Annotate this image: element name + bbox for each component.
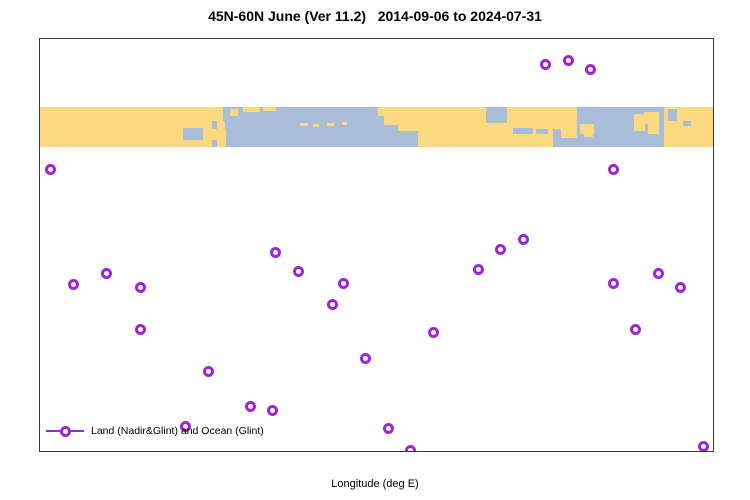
data-point	[45, 164, 56, 175]
data-point	[293, 266, 304, 277]
landmass-shape	[644, 112, 659, 124]
data-point	[608, 278, 619, 289]
data-point	[135, 324, 146, 335]
data-point	[338, 278, 349, 289]
data-point	[405, 445, 416, 452]
x-tick	[445, 451, 446, 452]
y-tick	[39, 43, 40, 44]
landmass-shape	[327, 123, 334, 126]
ocean-inset-shape	[183, 128, 203, 140]
x-tick	[310, 451, 311, 452]
landmass-shape	[561, 107, 577, 138]
landmass-shape	[243, 107, 261, 112]
landmass-shape	[648, 123, 659, 134]
data-point	[653, 268, 664, 279]
landmass-shape	[300, 123, 308, 126]
data-point	[563, 55, 574, 66]
data-point	[267, 405, 278, 416]
ocean-inset-shape	[265, 132, 285, 140]
legend-marker-icon	[46, 426, 84, 437]
x-tick	[175, 451, 176, 452]
ocean-inset-shape	[486, 107, 508, 123]
landmass-shape	[313, 124, 319, 127]
x-axis-title: Longitude (deg E)	[0, 478, 750, 490]
world-map-band	[40, 107, 714, 147]
landmass-shape	[584, 132, 593, 138]
data-point	[518, 234, 529, 245]
y-tick	[39, 293, 40, 294]
landmass-shape	[217, 121, 225, 130]
landmass-shape	[212, 107, 223, 121]
data-point	[135, 282, 146, 293]
landmass-shape	[212, 129, 226, 139]
data-point	[630, 324, 641, 335]
data-point	[540, 59, 551, 70]
chart-figure: 45N-60N June (Ver 11.2) 2014-09-06 to 20…	[0, 0, 750, 500]
y-tick	[39, 418, 40, 419]
ocean-inset-shape	[668, 109, 677, 121]
x-tick	[40, 451, 41, 452]
landmass-shape	[263, 107, 277, 111]
landmass-shape	[342, 122, 347, 124]
data-point	[327, 299, 338, 310]
data-point	[698, 441, 709, 452]
data-point	[383, 423, 394, 434]
data-point	[495, 244, 506, 255]
landmass-shape	[217, 140, 226, 147]
legend-label-series-0: Land (Nadir&Glint) and Ocean (Glint)	[91, 425, 264, 437]
data-point	[203, 366, 214, 377]
data-point	[360, 353, 371, 364]
plot-area: Land (Nadir&Glint) and Ocean (Glint) 500…	[39, 38, 714, 452]
data-point	[428, 327, 439, 338]
y-tick	[39, 168, 40, 169]
ocean-inset-shape	[536, 129, 548, 134]
data-point	[585, 64, 596, 75]
data-point	[245, 401, 256, 412]
ocean-inset-shape	[683, 121, 691, 127]
ocean-inset-shape	[513, 128, 533, 134]
data-point	[675, 282, 686, 293]
x-tick	[580, 451, 581, 452]
landmass-shape	[230, 109, 239, 115]
data-point	[473, 264, 484, 275]
chart-legend: Land (Nadir&Glint) and Ocean (Glint)	[46, 425, 264, 437]
data-point	[101, 268, 112, 279]
data-point	[270, 247, 281, 258]
chart-title: 45N-60N June (Ver 11.2) 2014-09-06 to 20…	[0, 8, 750, 24]
data-point	[608, 164, 619, 175]
data-point	[68, 279, 79, 290]
